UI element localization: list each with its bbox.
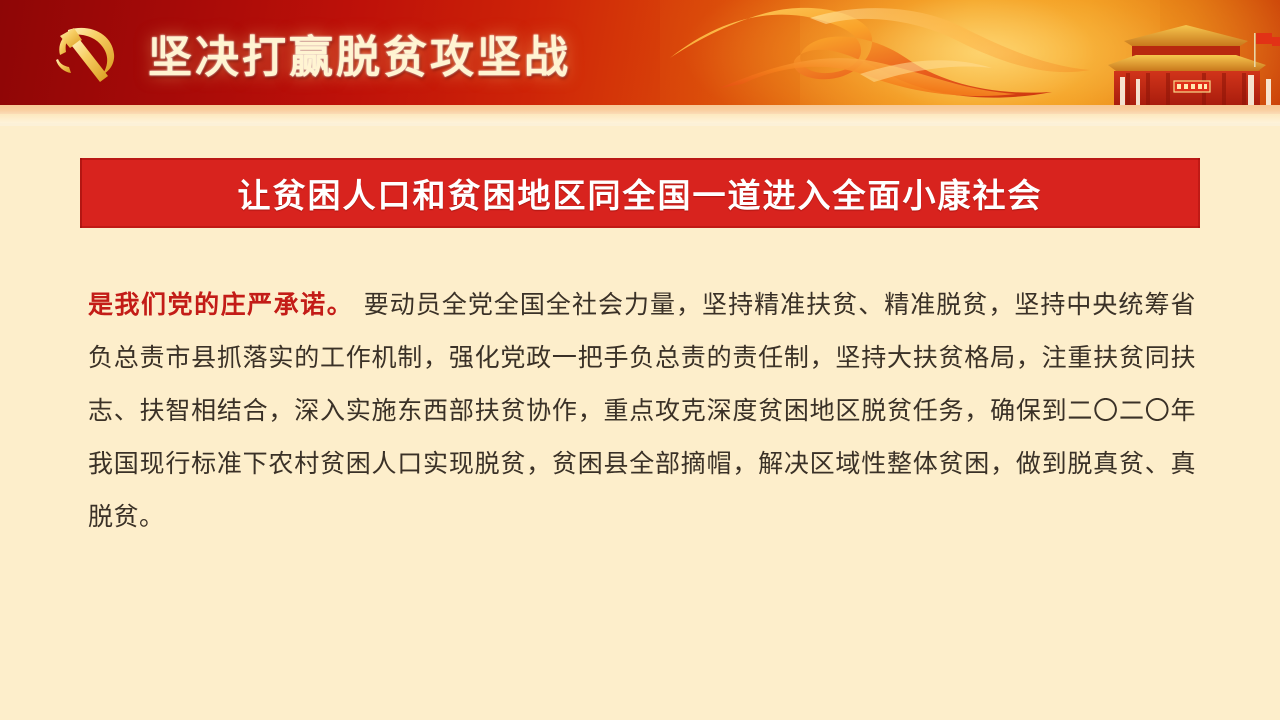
banner-underline-hairline	[0, 123, 1280, 126]
banner-title: 坚决打赢脱贫攻坚战	[148, 21, 571, 85]
section-title-bar: 让贫困人口和贫困地区同全国一道进入全面小康社会	[80, 158, 1200, 228]
header-banner: 坚决打赢脱贫攻坚战	[0, 0, 1280, 105]
content-paragraph: 是我们党的庄严承诺。要动员全党全国全社会力量，坚持精准扶贫、精准脱贫，坚持中央统…	[88, 278, 1196, 543]
cpc-hammer-sickle-emblem	[46, 22, 128, 84]
content-block: 是我们党的庄严承诺。要动员全党全国全社会力量，坚持精准扶贫、精准脱贫，坚持中央统…	[88, 278, 1196, 543]
paragraph-lead-phrase: 是我们党的庄严承诺。	[88, 290, 353, 319]
tiananmen-gate-icon	[1090, 19, 1280, 105]
slide-root: 坚决打赢脱贫攻坚战 让贫困人口和贫困地区同全国一道进入全面小康社会 是我们党的庄…	[0, 0, 1280, 720]
banner-underline-light	[0, 114, 1280, 123]
banner-underline-peach	[0, 105, 1280, 114]
paragraph-body-text: 要动员全党全国全社会力量，坚持精准扶贫、精准脱贫，坚持中央统筹省负总责市县抓落实…	[88, 290, 1196, 531]
section-title-text: 让贫困人口和贫困地区同全国一道进入全面小康社会	[238, 169, 1043, 217]
